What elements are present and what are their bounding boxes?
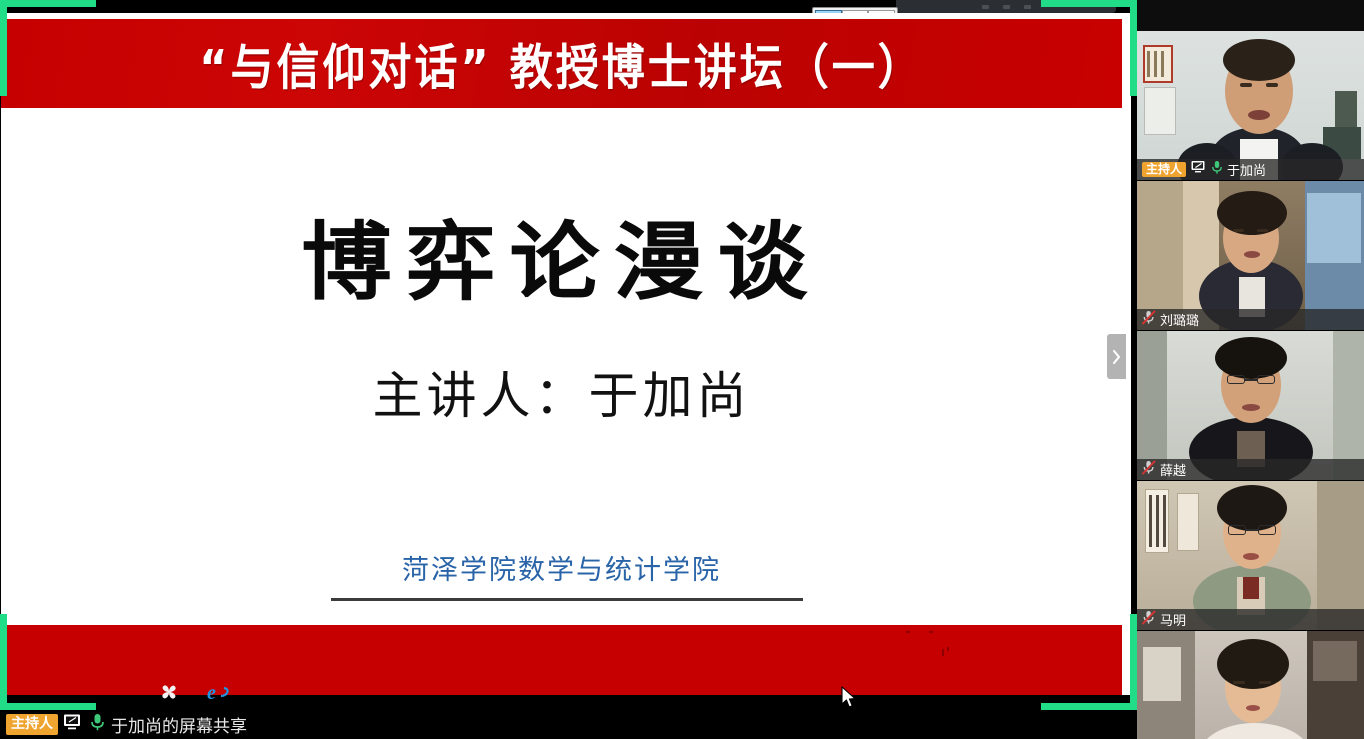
share-frame-border bbox=[0, 614, 7, 710]
app-root: “与信仰对话” 教授博士讲坛（一） 博弈论漫谈 主讲人：于加尚 菏泽学院数学与统… bbox=[0, 0, 1364, 739]
participant-video bbox=[1137, 181, 1364, 330]
slide-organization: 菏泽学院数学与统计学院 bbox=[1, 548, 1122, 587]
video-strip-top-gap bbox=[1137, 0, 1364, 31]
participant-video bbox=[1137, 331, 1364, 480]
screen-share-icon bbox=[63, 713, 84, 736]
share-frame-border bbox=[0, 0, 7, 96]
microphone-on-icon bbox=[1211, 160, 1223, 180]
participant-name: 刘璐璐 bbox=[1160, 310, 1199, 329]
microphone-on-icon bbox=[89, 712, 106, 737]
participant-info-bar: 马明 bbox=[1137, 609, 1364, 630]
share-frame-border bbox=[1130, 0, 1137, 96]
participant-info-bar: 主持人 于加尚 bbox=[1137, 159, 1364, 180]
share-frame-border bbox=[0, 0, 96, 7]
footer-speck bbox=[947, 647, 949, 651]
slide-header-banner: “与信仰对话” 教授博士讲坛（一） bbox=[1, 19, 1122, 108]
presentation-slide: “与信仰对话” 教授博士讲坛（一） 博弈论漫谈 主讲人：于加尚 菏泽学院数学与统… bbox=[1, 13, 1131, 695]
footer-speck bbox=[929, 631, 933, 633]
pinwheel-app-icon[interactable] bbox=[158, 681, 180, 708]
participant-tile[interactable]: 刘璐璐 bbox=[1137, 181, 1364, 331]
internet-explorer-icon[interactable]: e bbox=[206, 681, 232, 708]
footer-speck bbox=[942, 649, 944, 656]
status-bar-text: 于加尚的屏幕共享 bbox=[111, 712, 247, 737]
collapse-share-handle[interactable] bbox=[1107, 334, 1126, 379]
participant-name: 于加尚 bbox=[1227, 160, 1266, 179]
share-frame-border bbox=[1130, 614, 1137, 710]
share-frame-border bbox=[0, 703, 96, 710]
slide-body: 博弈论漫谈 主讲人：于加尚 菏泽学院数学与统计学院 bbox=[1, 108, 1122, 625]
slide-main-title: 博弈论漫谈 bbox=[1, 194, 1122, 316]
share-status-bar: 主持人 于加尚的屏幕共享 bbox=[0, 710, 1137, 739]
share-frame-border bbox=[1041, 0, 1137, 7]
screen-share-icon bbox=[1191, 160, 1207, 179]
participant-tile[interactable]: 主持人 于加尚 bbox=[1137, 31, 1364, 181]
microphone-muted-icon bbox=[1142, 310, 1156, 330]
mouse-cursor bbox=[841, 686, 858, 710]
microphone-muted-icon bbox=[1142, 460, 1156, 480]
participant-video bbox=[1137, 31, 1364, 180]
participant-info-bar: 薛越 bbox=[1137, 459, 1364, 480]
participant-name: 薛越 bbox=[1160, 460, 1186, 479]
slide-speaker-line: 主讲人：于加尚 bbox=[1, 356, 1122, 428]
toolbar-dot-1 bbox=[982, 5, 989, 9]
taskbar-icon-group[interactable]: e bbox=[158, 681, 232, 708]
participant-video bbox=[1137, 481, 1364, 630]
slide-header-title: “与信仰对话” 教授博士讲坛（一） bbox=[199, 29, 924, 98]
share-frame-border bbox=[1041, 703, 1137, 710]
shared-screen-area[interactable]: “与信仰对话” 教授博士讲坛（一） 博弈论漫谈 主讲人：于加尚 菏泽学院数学与统… bbox=[0, 0, 1137, 710]
footer-speck bbox=[906, 631, 910, 633]
svg-text:e: e bbox=[207, 682, 216, 703]
participant-video-strip[interactable]: 主持人 于加尚 bbox=[1137, 0, 1364, 739]
microphone-muted-icon bbox=[1142, 610, 1156, 630]
toolbar-dot-2 bbox=[1003, 5, 1010, 9]
participant-name: 马明 bbox=[1160, 610, 1186, 629]
status-host-badge: 主持人 bbox=[6, 714, 58, 734]
participant-tile[interactable]: 王聪 bbox=[1137, 631, 1364, 739]
host-badge: 主持人 bbox=[1142, 162, 1186, 178]
participant-info-bar: 刘璐璐 bbox=[1137, 309, 1364, 330]
participant-tile[interactable]: 马明 bbox=[1137, 481, 1364, 631]
toolbar-dot-3 bbox=[1024, 5, 1031, 9]
participant-tile[interactable]: 薛越 bbox=[1137, 331, 1364, 481]
slide-divider-rule bbox=[331, 598, 803, 601]
participant-video bbox=[1137, 631, 1364, 739]
